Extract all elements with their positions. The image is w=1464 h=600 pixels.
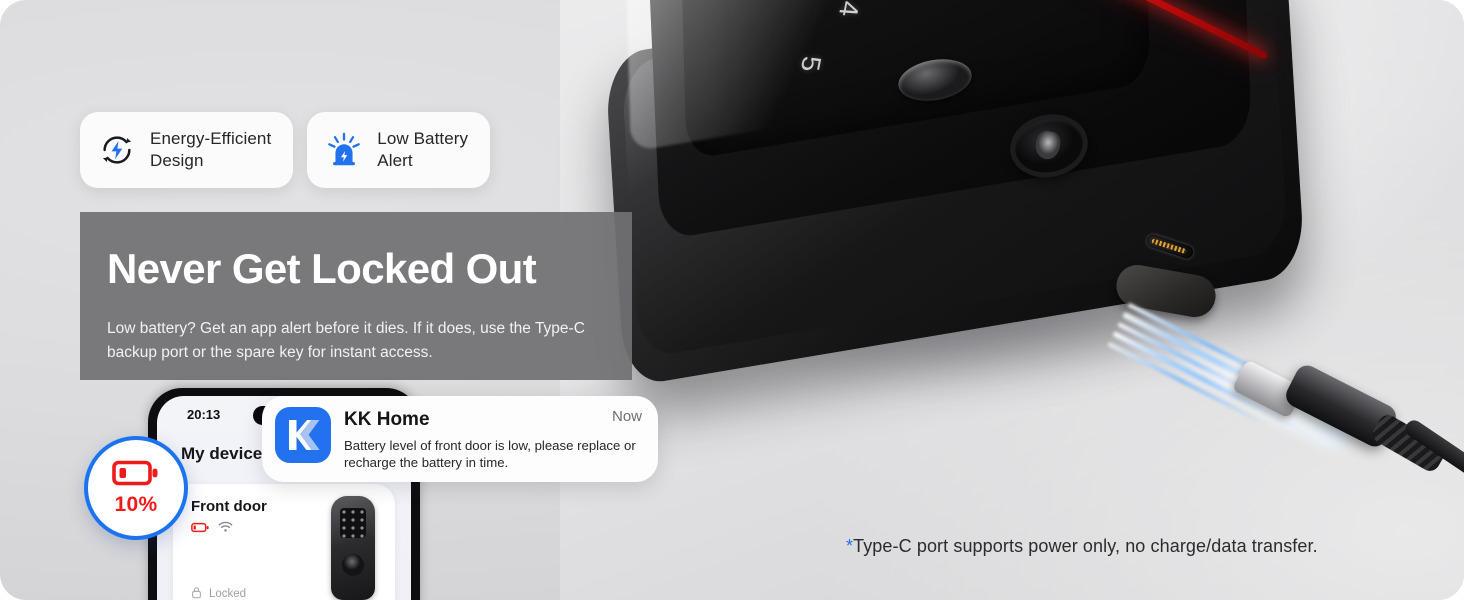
- low-battery-siren-icon: [325, 131, 363, 169]
- notification-body: KK Home Battery level of front door is l…: [344, 407, 644, 471]
- product-feature-banner: 1 4 5 6 7 8 9 0: [0, 0, 1464, 600]
- feature-pill-energy-efficient[interactable]: Energy-Efficient Design: [80, 112, 293, 188]
- battery-level-badge: 10%: [84, 436, 188, 540]
- device-name: Front door: [191, 498, 267, 515]
- footnote-disclaimer: *Type-C port supports power only, no cha…: [846, 536, 1318, 557]
- headline-panel: Never Get Locked Out Low battery? Get an…: [80, 212, 632, 380]
- battery-percent-label: 10%: [115, 493, 158, 517]
- low-battery-icon: [191, 520, 210, 538]
- battery-low-icon: [112, 460, 160, 491]
- notification-app-name: KK Home: [344, 409, 644, 431]
- lock-status-label: Locked: [209, 588, 246, 600]
- status-bar-time: 20:13: [187, 407, 220, 422]
- device-indicator-icons: [191, 520, 233, 538]
- page-title: Never Get Locked Out: [107, 248, 632, 290]
- device-thumbnail-smart-lock: [331, 496, 375, 600]
- feature-pill-label: Energy-Efficient Design: [150, 128, 271, 172]
- energy-efficient-icon: [98, 131, 136, 169]
- push-notification-card[interactable]: KK Home Battery level of front door is l…: [262, 396, 658, 482]
- padlock-icon: [191, 586, 202, 600]
- feature-pill-label: Low Battery Alert: [377, 128, 468, 172]
- notification-timestamp: Now: [612, 408, 642, 425]
- wifi-icon: [218, 520, 233, 538]
- device-card-front-door[interactable]: Front door: [173, 484, 395, 600]
- feature-pill-group: Energy-Efficient Design Low Bat: [80, 112, 490, 188]
- feature-pill-low-battery-alert[interactable]: Low Battery Alert: [307, 112, 490, 188]
- footnote-text: Type-C port supports power only, no char…: [853, 536, 1318, 556]
- device-lock-status: Locked: [191, 586, 246, 600]
- my-devices-heading: My devices: [181, 444, 272, 464]
- notification-message: Battery level of front door is low, plea…: [344, 437, 644, 471]
- headline-body-text: Low battery? Get an app alert before it …: [107, 317, 605, 365]
- kk-home-app-icon: [275, 407, 331, 463]
